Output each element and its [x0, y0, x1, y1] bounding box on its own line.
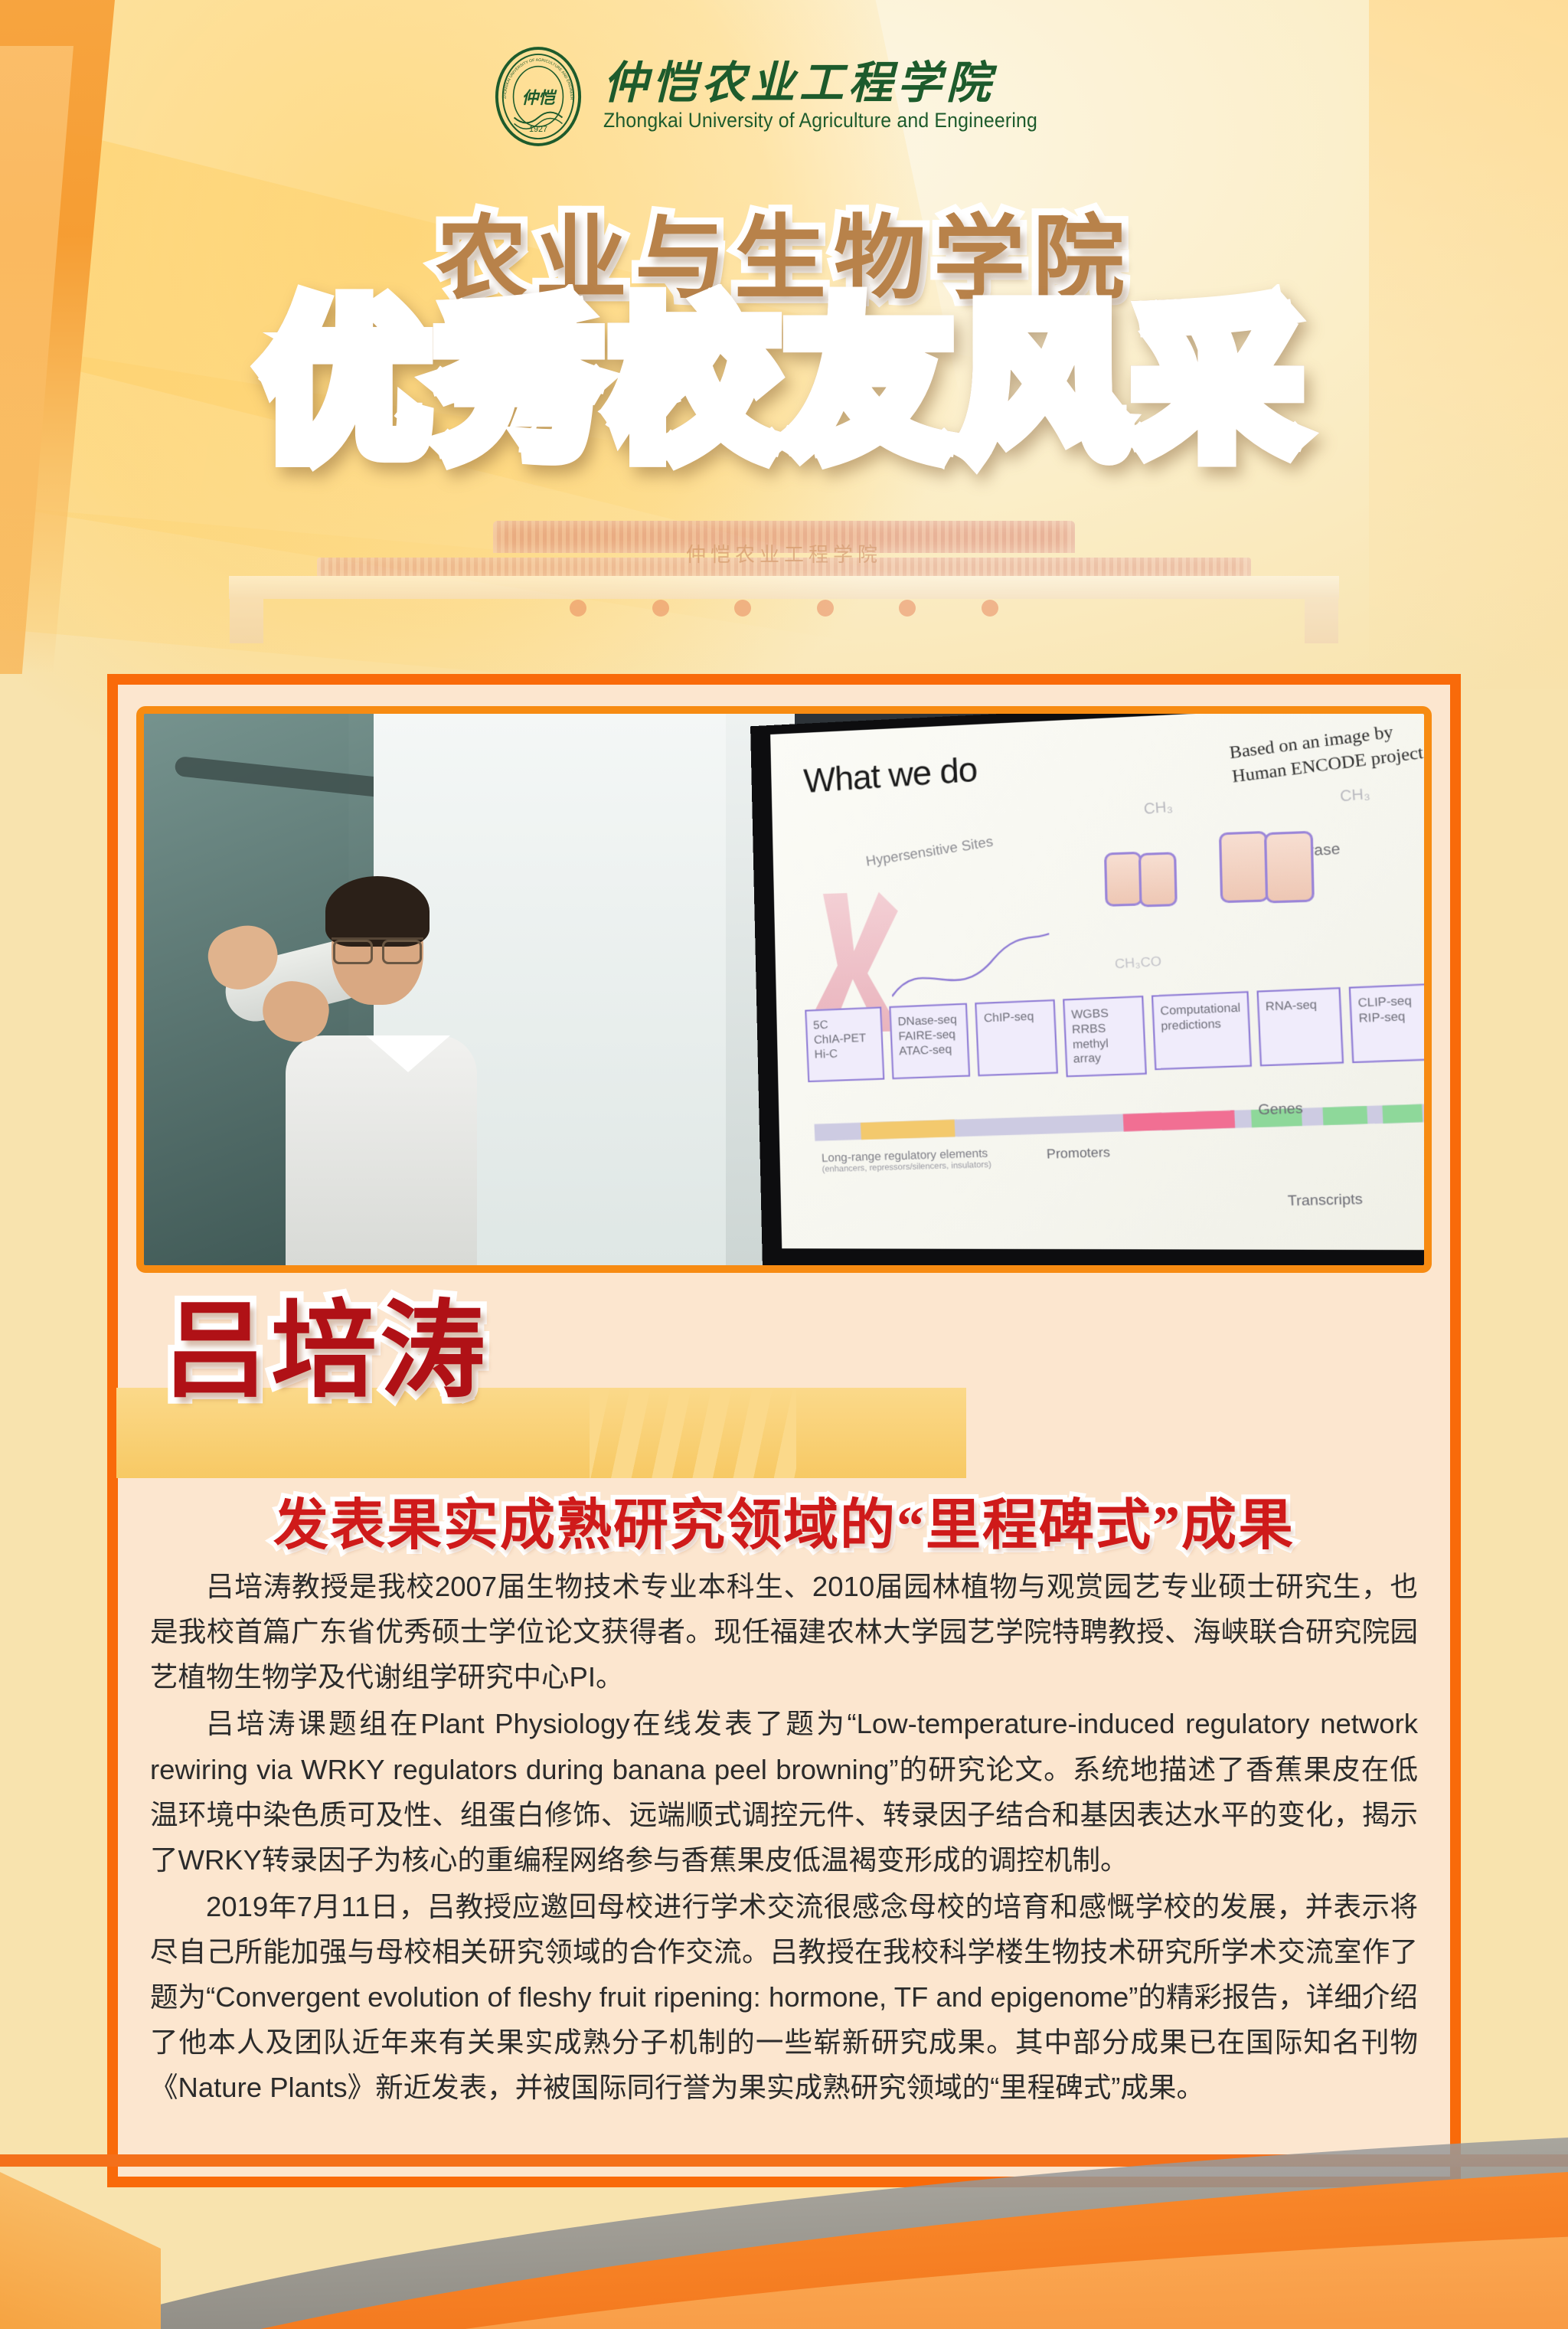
alumnus-biography: 吕培涛教授是我校2007届生物技术专业本科生、2010届园林植物与观赏园艺专业硕…	[150, 1564, 1418, 2112]
slide-label-ch3-2: CH₃	[1339, 786, 1370, 806]
svg-text:仲恺: 仲恺	[521, 89, 557, 107]
slide-label-ch3-1: CH₃	[1143, 799, 1173, 819]
university-name-cn: 仲恺农业工程学院	[603, 61, 1075, 107]
photo-speaker-figure	[255, 836, 508, 1265]
poster-root: 仲恺农业工程学院 仲恺 1927 ZHONGKAI UNIVERSITY OF …	[0, 0, 1568, 2329]
gate-column-left	[230, 597, 263, 643]
gate-column-right	[1305, 597, 1338, 643]
slide-credit: Based on an image by Human ENCODE projec…	[1228, 716, 1424, 788]
biography-paragraph: 吕培涛教授是我校2007届生物技术专业本科生、2010届园林植物与观赏园艺专业硕…	[150, 1564, 1418, 1699]
name-diagonal-stripes	[590, 1388, 796, 1478]
slide-nucleosome-1	[1104, 852, 1143, 907]
slide-label-genes: Genes	[1258, 1100, 1303, 1118]
gate-plaque-text: 仲恺农业工程学院	[646, 542, 922, 568]
slide-label-promoters: Promoters	[1047, 1145, 1111, 1163]
university-logo-text: 仲恺农业工程学院 Zhongkai University of Agricult…	[603, 61, 1075, 132]
slide-assay-box: 5CChIA-PETHi-C	[805, 1006, 884, 1082]
slide-assay-box: ChIP-seq	[975, 999, 1058, 1076]
photo-speaker-shirt	[286, 1035, 477, 1265]
university-seal-icon: 仲恺 1927 ZHONGKAI UNIVERSITY OF AGRICULTU…	[493, 46, 583, 147]
photo-speaker-glasses	[332, 937, 423, 960]
slide-nucleosome-4	[1264, 831, 1315, 904]
presentation-slide: What we do Based on an image by Human EN…	[770, 706, 1432, 1250]
slide-assay-box: CLIP-seqRIP-seq	[1348, 983, 1432, 1063]
photo-speaker-hair	[325, 876, 430, 947]
slide-genome-segment-gene-3	[1382, 1104, 1423, 1124]
slide-nucleosome-2	[1138, 852, 1178, 907]
slide-genome-segment-promoter	[1123, 1111, 1236, 1132]
slide-assay-box: Computationalpredictions	[1151, 991, 1252, 1070]
slide-assay-box: DNase-seqFAIRE-seqATAC-seq	[890, 1003, 971, 1080]
photo-speaker-collar	[366, 1035, 450, 1081]
slide-assay-box: WGBSRRBSmethyl array	[1063, 996, 1147, 1077]
gate-lintel	[229, 576, 1339, 599]
slide-genome-segment-enhancer	[861, 1120, 955, 1140]
slide-genome-segment-gene-2	[1322, 1106, 1367, 1125]
slide-label-transcripts: Transcripts	[1287, 1191, 1363, 1210]
presentation-screen: What we do Based on an image by Human EN…	[750, 706, 1432, 1271]
biography-paragraph: 吕培涛课题组在Plant Physiology在线发表了题为“Low-tempe…	[150, 1701, 1418, 1882]
university-logo-row: 仲恺 1927 ZHONGKAI UNIVERSITY OF AGRICULTU…	[0, 46, 1568, 147]
footer-decoration	[0, 2138, 1568, 2329]
alumnus-photo: What we do Based on an image by Human EN…	[136, 706, 1432, 1273]
svg-text:1927: 1927	[529, 125, 547, 134]
alumnus-subtitle: 发表果实成熟研究领域的“里程碑式”成果	[0, 1480, 1568, 1560]
poster-title-line-2: 优秀校友风采	[0, 299, 1568, 467]
slide-label-long-range: Long-range regulatory elements (enhancer…	[822, 1147, 991, 1174]
slide-assay-box: RNA-seq	[1256, 987, 1344, 1066]
gate-door-studs	[570, 599, 998, 617]
slide-title: What we do	[802, 751, 978, 801]
biography-paragraph: 2019年7月11日，吕教授应邀回母校进行学术交流很感念母校的培育和感慨学校的发…	[150, 1884, 1418, 2111]
slide-genome-track	[814, 1104, 1427, 1141]
alumnus-name: 吕培涛	[162, 1296, 488, 1407]
university-name-en: Zhongkai University of Agriculture and E…	[603, 109, 1037, 132]
slide-label-hypersensitive-sites: Hypersensitive Sites	[865, 833, 995, 869]
slide-nucleosome-3	[1219, 831, 1269, 903]
slide-label-ch3co: CH₃CO	[1114, 954, 1161, 972]
